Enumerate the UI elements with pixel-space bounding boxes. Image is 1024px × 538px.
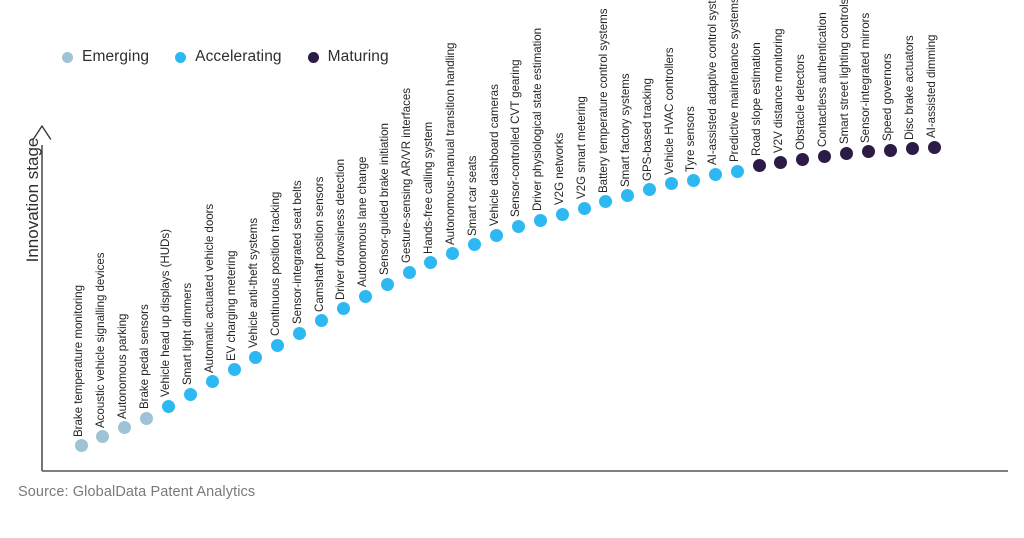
data-point-label: Tyre sensors xyxy=(684,106,697,172)
data-point-dot xyxy=(731,165,744,178)
data-point-label: Autonomous lane change xyxy=(356,157,369,287)
data-point-label: Sensor-controlled CVT gearing xyxy=(509,60,522,218)
data-point-label: Battery temperature control systems xyxy=(597,8,610,192)
data-point-dot xyxy=(796,153,809,166)
source-caption: Source: GlobalData Patent Analytics xyxy=(18,484,255,500)
data-point-dot xyxy=(162,400,175,413)
data-point-dot xyxy=(665,177,678,190)
data-point-dot xyxy=(118,421,131,434)
data-point-dot xyxy=(315,314,328,327)
data-point-dot xyxy=(687,174,700,187)
data-point-label: EV charging metering xyxy=(225,250,238,361)
data-point-label: Autonomous-manual transition handling xyxy=(444,42,457,244)
data-point-dot xyxy=(753,159,766,172)
data-point-dot xyxy=(862,145,875,158)
data-point-dot xyxy=(512,220,525,233)
data-point-label: AI-assisted adaptive control systems xyxy=(706,0,719,165)
data-point-dot xyxy=(928,141,941,154)
data-point-dot xyxy=(906,142,919,155)
data-point-label: Contactless authentication xyxy=(816,12,829,147)
scatter-plot-area: Brake temperature monitoringAcoustic veh… xyxy=(0,0,1024,538)
data-point-dot xyxy=(140,412,153,425)
data-point-label: Autonomous parking xyxy=(116,313,129,418)
data-point-label: V2G networks xyxy=(553,133,566,205)
data-point-dot xyxy=(578,202,591,215)
data-point-dot xyxy=(381,278,394,291)
data-point-dot xyxy=(840,147,853,160)
data-point-label: Smart car seats xyxy=(466,155,479,235)
data-point-label: Gesture-sensing AR/VR interfaces xyxy=(400,88,413,263)
data-point-label: Continuous position tracking xyxy=(269,192,282,336)
data-point-dot xyxy=(621,189,634,202)
data-point-label: AI-assisted dimming xyxy=(925,35,938,138)
data-point-dot xyxy=(228,363,241,376)
data-point-label: Smart street lighting controls xyxy=(838,0,851,144)
data-point-label: Sensor-integrated seat belts xyxy=(291,180,304,324)
data-point-label: Predictive maintenance systems xyxy=(728,0,741,162)
data-point-label: Obstacle detectors xyxy=(794,54,807,150)
data-point-dot xyxy=(884,144,897,157)
data-point-label: Vehicle head up displays (HUDs) xyxy=(159,229,172,397)
data-point-dot xyxy=(774,156,787,169)
data-point-dot xyxy=(293,327,306,340)
data-point-label: Hands-free calling system xyxy=(422,122,435,254)
data-point-label: Driver physiological state estimation xyxy=(531,28,544,211)
data-point-dot xyxy=(818,150,831,163)
data-point-dot xyxy=(271,339,284,352)
data-point-label: Vehicle HVAC controllers xyxy=(663,47,676,174)
data-point-dot xyxy=(206,375,219,388)
data-point-label: Vehicle dashboard cameras xyxy=(488,85,501,227)
data-point-dot xyxy=(403,266,416,279)
data-point-label: Disc brake actuators xyxy=(903,35,916,140)
data-point-label: Driver drowsiness detection xyxy=(334,159,347,300)
data-point-label: Acoustic vehicle signalling devices xyxy=(94,252,107,427)
data-point-label: Automatic actuated vehicle doors xyxy=(203,204,216,373)
data-point-dot xyxy=(709,168,722,181)
data-point-label: Speed governors xyxy=(881,53,894,141)
data-point-dot xyxy=(184,388,197,401)
data-point-dot xyxy=(424,256,437,269)
data-point-dot xyxy=(490,229,503,242)
data-point-label: GPS-based tracking xyxy=(641,78,654,181)
data-point-label: Smart light dimmers xyxy=(181,283,194,385)
data-point-dot xyxy=(643,183,656,196)
data-point-label: Smart factory systems xyxy=(619,73,632,187)
data-point-dot xyxy=(446,247,459,260)
data-point-label: V2G smart metering xyxy=(575,96,588,199)
data-point-label: Brake temperature monitoring xyxy=(72,285,85,437)
data-point-label: Brake pedal sensors xyxy=(138,305,151,410)
data-point-dot xyxy=(249,351,262,364)
data-point-dot xyxy=(337,302,350,315)
data-point-dot xyxy=(534,214,547,227)
data-point-dot xyxy=(359,290,372,303)
data-point-dot xyxy=(599,195,612,208)
data-point-dot xyxy=(468,238,481,251)
data-point-label: Sensor-guided brake initiation xyxy=(378,123,391,275)
data-point-label: Camshaft position sensors xyxy=(313,176,326,311)
data-point-dot xyxy=(556,208,569,221)
data-point-label: Vehicle anti-theft systems xyxy=(247,218,260,348)
data-point-label: Sensor-integrated mirrors xyxy=(859,12,872,142)
data-point-label: Road slope estimation xyxy=(750,43,763,157)
data-point-dot xyxy=(96,430,109,443)
data-point-dot xyxy=(75,439,88,452)
data-point-label: V2V distance monitoring xyxy=(772,29,785,154)
